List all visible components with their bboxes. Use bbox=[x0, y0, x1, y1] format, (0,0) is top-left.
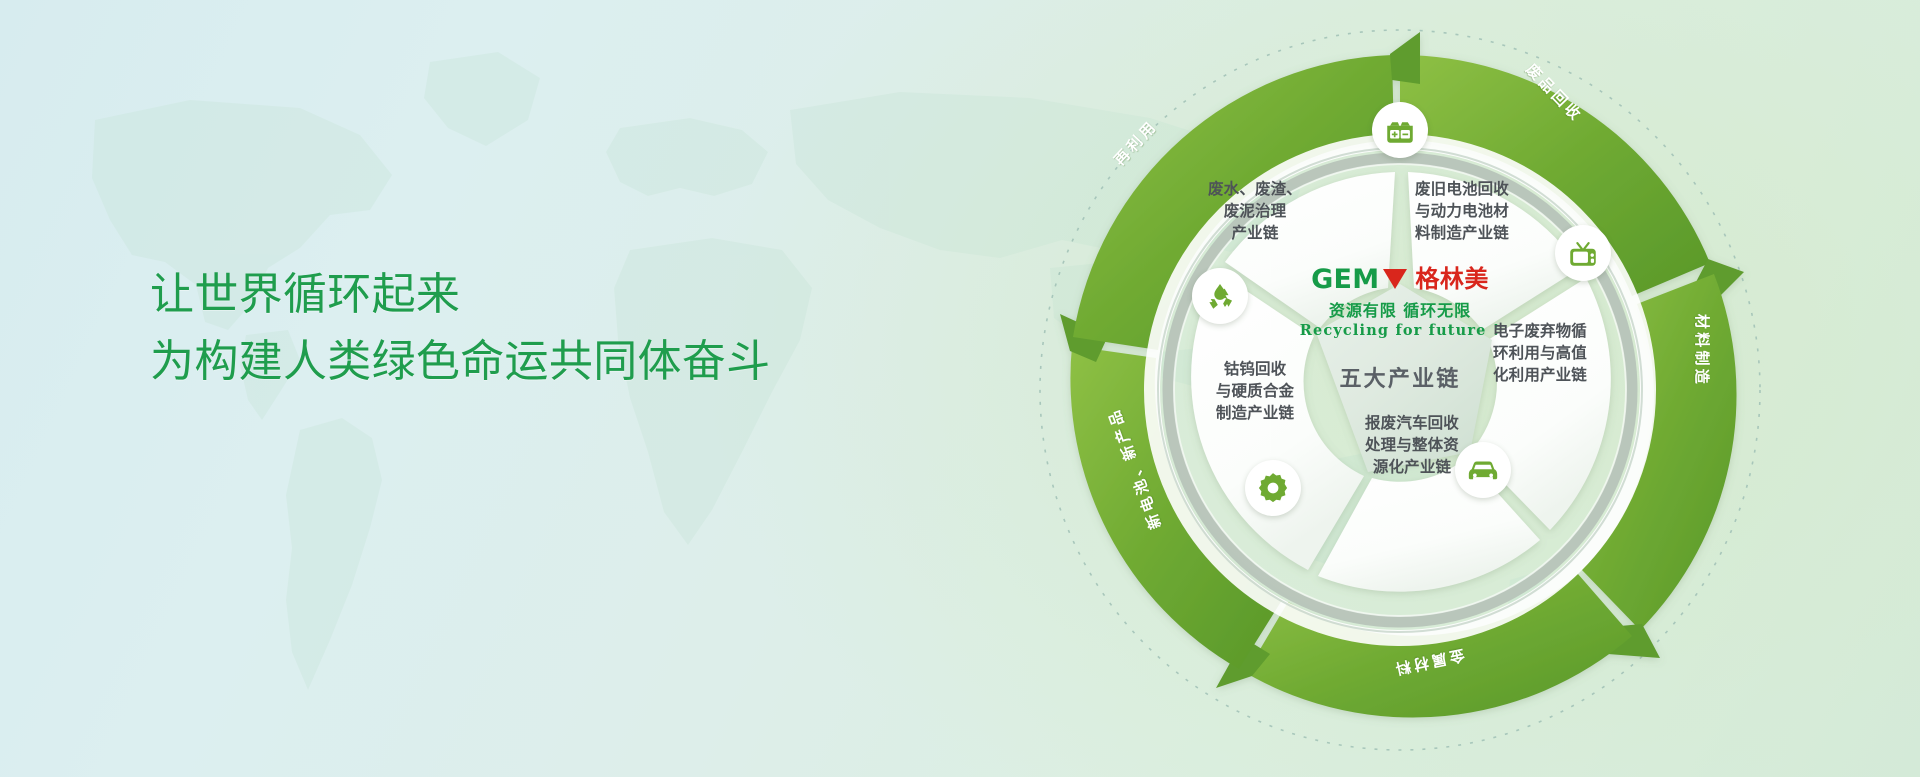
headline-line-1: 让世界循环起来 bbox=[150, 262, 950, 329]
brand-cn: 格林美 bbox=[1415, 267, 1488, 291]
ring-label-material-mfg: 材料制造 bbox=[1692, 314, 1713, 387]
gear-icon bbox=[1256, 471, 1290, 505]
recycle-water-icon bbox=[1203, 279, 1237, 313]
headline-line-2: 为构建人类绿色命运共同体奋斗 bbox=[150, 329, 950, 396]
segment-label-cobalt-tungsten: 钴钨回收 与硬质合金 制造产业链 bbox=[1180, 358, 1330, 424]
headline: 让世界循环起来 为构建人类绿色命运共同体奋斗 bbox=[150, 262, 950, 396]
badge-recycle-water bbox=[1192, 268, 1248, 324]
brand-lockup: GEM 格林美 bbox=[1275, 265, 1525, 293]
brand-triangle-icon bbox=[1383, 269, 1407, 289]
badge-battery bbox=[1372, 102, 1428, 158]
industry-chain-diagram: GEM 格林美 资源有限 循环无限 Recycling for future !… bbox=[1020, 10, 1780, 770]
battery-icon bbox=[1383, 113, 1417, 147]
segment-label-waste-water: 废水、废渣、 废泥治理 产业链 bbox=[1180, 178, 1330, 244]
badge-television bbox=[1555, 225, 1611, 281]
badge-gear bbox=[1245, 460, 1301, 516]
badge-car bbox=[1455, 442, 1511, 498]
brand-latin: GEM bbox=[1311, 266, 1379, 293]
segment-label-battery: 废旧电池回收 与动力电池材 料制造产业链 bbox=[1382, 178, 1542, 244]
segment-label-e-waste: 电子废弃物循 环利用与高值 化利用产业链 bbox=[1460, 320, 1620, 386]
television-icon bbox=[1566, 236, 1600, 270]
car-icon bbox=[1466, 453, 1500, 487]
slogan-cn: 资源有限 循环无限 bbox=[1275, 297, 1525, 321]
banner-stage: 让世界循环起来 为构建人类绿色命运共同体奋斗 bbox=[0, 0, 1920, 777]
